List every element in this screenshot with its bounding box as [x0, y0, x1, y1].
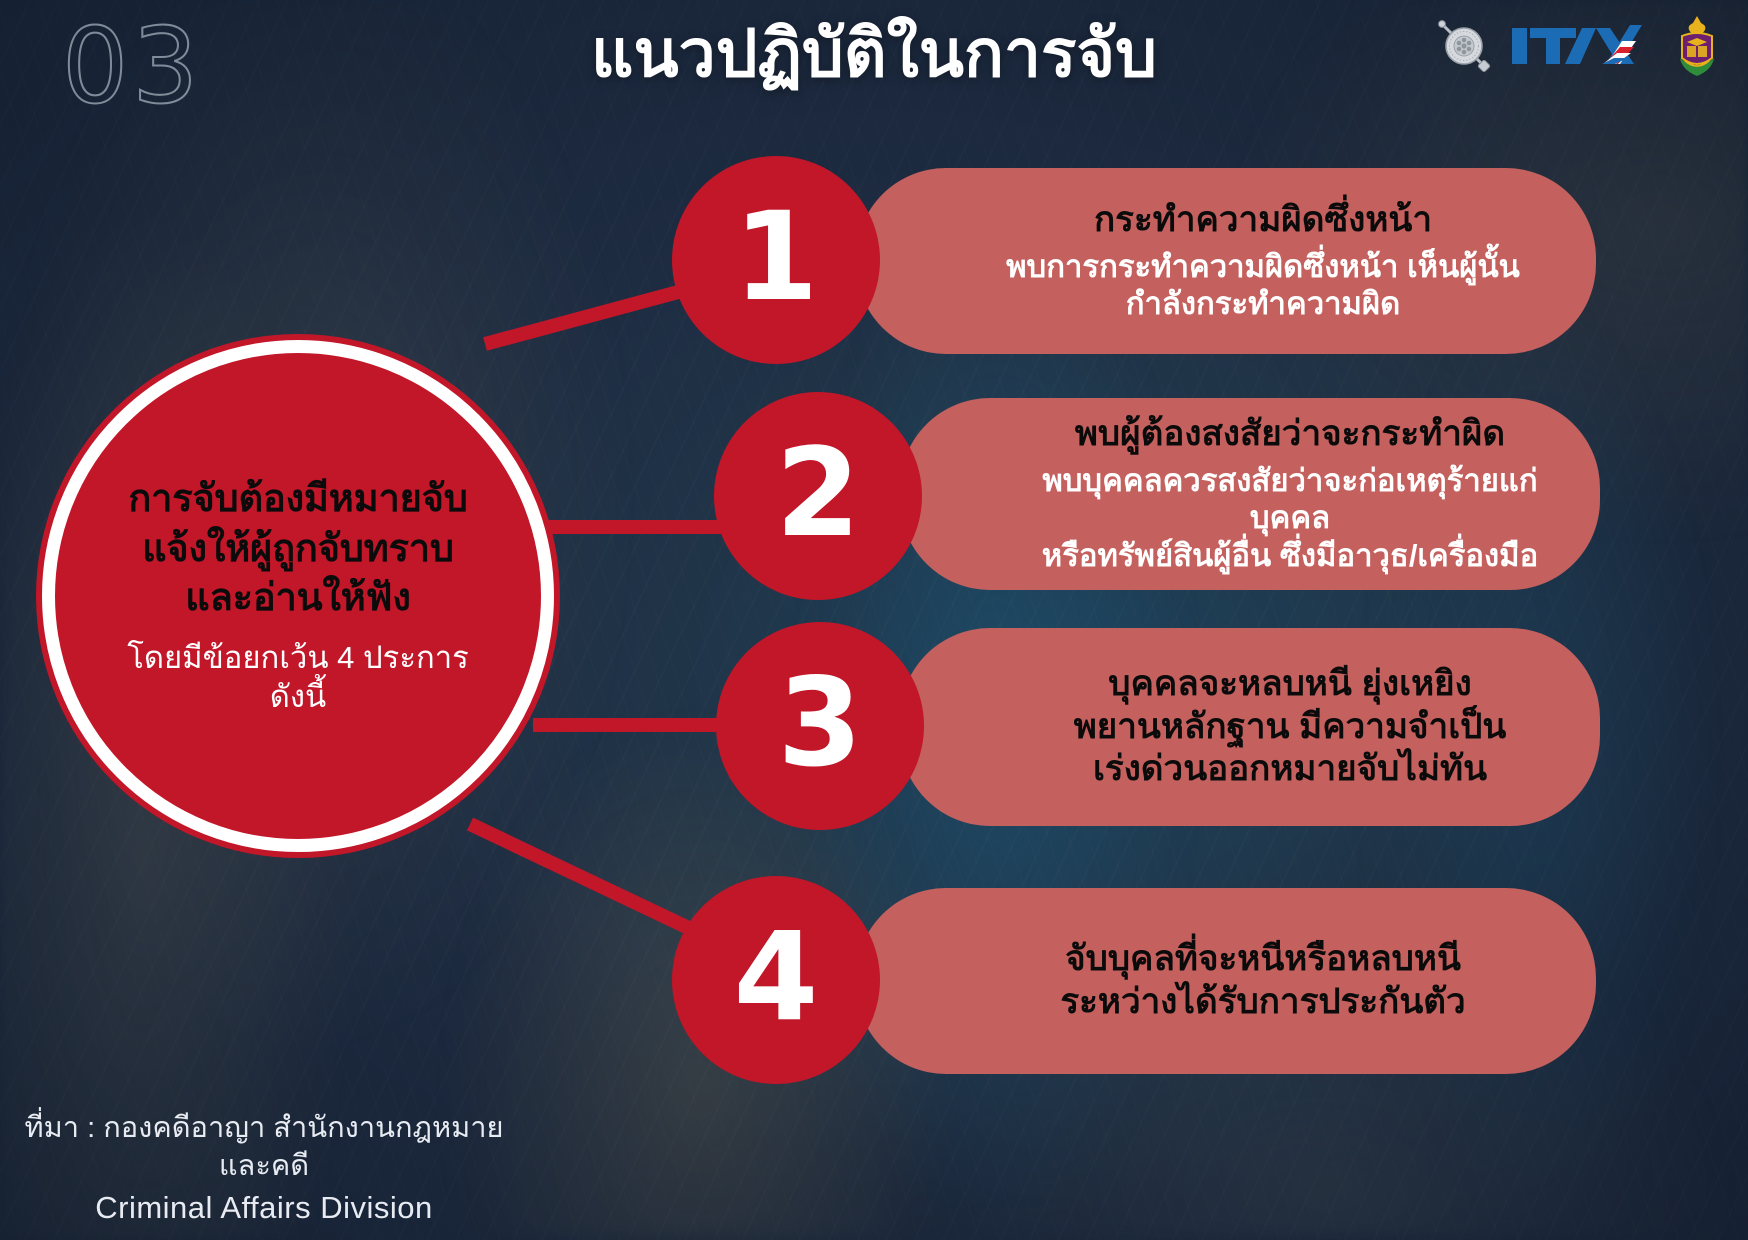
item-bullet-1: 1: [672, 156, 880, 364]
item-body-1: พบการกระทำความผิดซึ่งหน้า เห็นผู้นั้น กำ…: [1006, 248, 1520, 324]
footer-source-english: Criminal Affairs Division: [14, 1188, 514, 1228]
ita-logo: [1510, 19, 1660, 73]
center-main-line-1: การจับต้องมีหมายจับ: [128, 475, 467, 524]
center-main-line-2: แจ้งให้ผู้ถูกจับทราบ: [128, 525, 467, 574]
item-bullet-4: 4: [672, 876, 880, 1084]
center-main-line-3: และอ่านให้ฟัง: [128, 574, 467, 623]
logo-group: [1432, 14, 1720, 78]
infographic-canvas: 03 แนวปฏิบัติในการจับ: [0, 0, 1748, 1240]
center-sub-line-2: ดังนี้: [127, 678, 469, 717]
item-heading-2: พบผู้ต้องสงสัยว่าจะกระทำผิด: [1075, 413, 1505, 456]
seal-emblem-logo: [1432, 14, 1496, 78]
item-bullet-2: 2: [714, 392, 922, 600]
source-footer: ที่มา : กองคดีอาญา สำนักงานกฎหมายและคดี …: [14, 1110, 514, 1228]
item-body-line: เร่งด่วนออกหมายจับไม่ทัน: [1074, 748, 1507, 791]
item-body-line: พบการกระทำความผิดซึ่งหน้า เห็นผู้นั้น: [1006, 248, 1520, 286]
item-number-2: 2: [776, 432, 861, 554]
item-body-2: พบบุคคลควรสงสัยว่าจะก่อเหตุร้ายแก่บุคคล …: [1004, 462, 1576, 575]
footer-source-thai: ที่มา : กองคดีอาญา สำนักงานกฎหมายและคดี: [14, 1110, 514, 1185]
center-main-text: การจับต้องมีหมายจับ แจ้งให้ผู้ถูกจับทราบ…: [94, 475, 501, 623]
item-heading-1: กระทำความผิดซึ่งหน้า: [1094, 199, 1432, 242]
item-body-line: พบบุคคลควรสงสัยว่าจะก่อเหตุร้ายแก่บุคคล: [1004, 462, 1576, 538]
item-number-4: 4: [734, 916, 819, 1038]
item-number-3: 3: [778, 662, 863, 784]
item-number-1: 1: [734, 196, 819, 318]
item-bullet-3: 3: [716, 622, 924, 830]
item-body-line: กำลังกระทำความผิด: [1006, 285, 1520, 323]
item-body-3: บุคคลจะหลบหนี ยุ่งเหยิง พยานหลักฐาน มีคว…: [1074, 663, 1507, 791]
item-body-line: หรือทรัพย์สินผู้อื่น ซึ่งมีอาวุธ/เครื่อง…: [1004, 537, 1576, 575]
royal-emblem-logo: [1674, 14, 1720, 78]
item-card-2[interactable]: พบผู้ต้องสงสัยว่าจะกระทำผิด พบบุคคลควรสง…: [900, 398, 1600, 590]
center-hub: การจับต้องมีหมายจับ แจ้งให้ผู้ถูกจับทราบ…: [42, 340, 554, 852]
item-body-4: จับบุคลที่จะหนีหรือหลบหนี ระหว่างได้รับก…: [1060, 938, 1465, 1023]
item-body-line: ระหว่างได้รับการประกันตัว: [1060, 981, 1465, 1024]
item-body-line: จับบุคลที่จะหนีหรือหลบหนี: [1060, 938, 1465, 981]
item-body-line: บุคคลจะหลบหนี ยุ่งเหยิง: [1074, 663, 1507, 706]
item-card-3[interactable]: บุคคลจะหลบหนี ยุ่งเหยิง พยานหลักฐาน มีคว…: [900, 628, 1600, 826]
item-card-4[interactable]: จับบุคลที่จะหนีหรือหลบหนี ระหว่างได้รับก…: [856, 888, 1596, 1074]
center-sub-line-1: โดยมีข้อยกเว้น 4 ประการ: [127, 639, 469, 678]
center-sub-text: โดยมีข้อยกเว้น 4 ประการ ดังนี้: [87, 639, 509, 717]
item-body-line: พยานหลักฐาน มีความจำเป็น: [1074, 706, 1507, 749]
item-card-1[interactable]: กระทำความผิดซึ่งหน้า พบการกระทำความผิดซึ…: [856, 168, 1596, 354]
